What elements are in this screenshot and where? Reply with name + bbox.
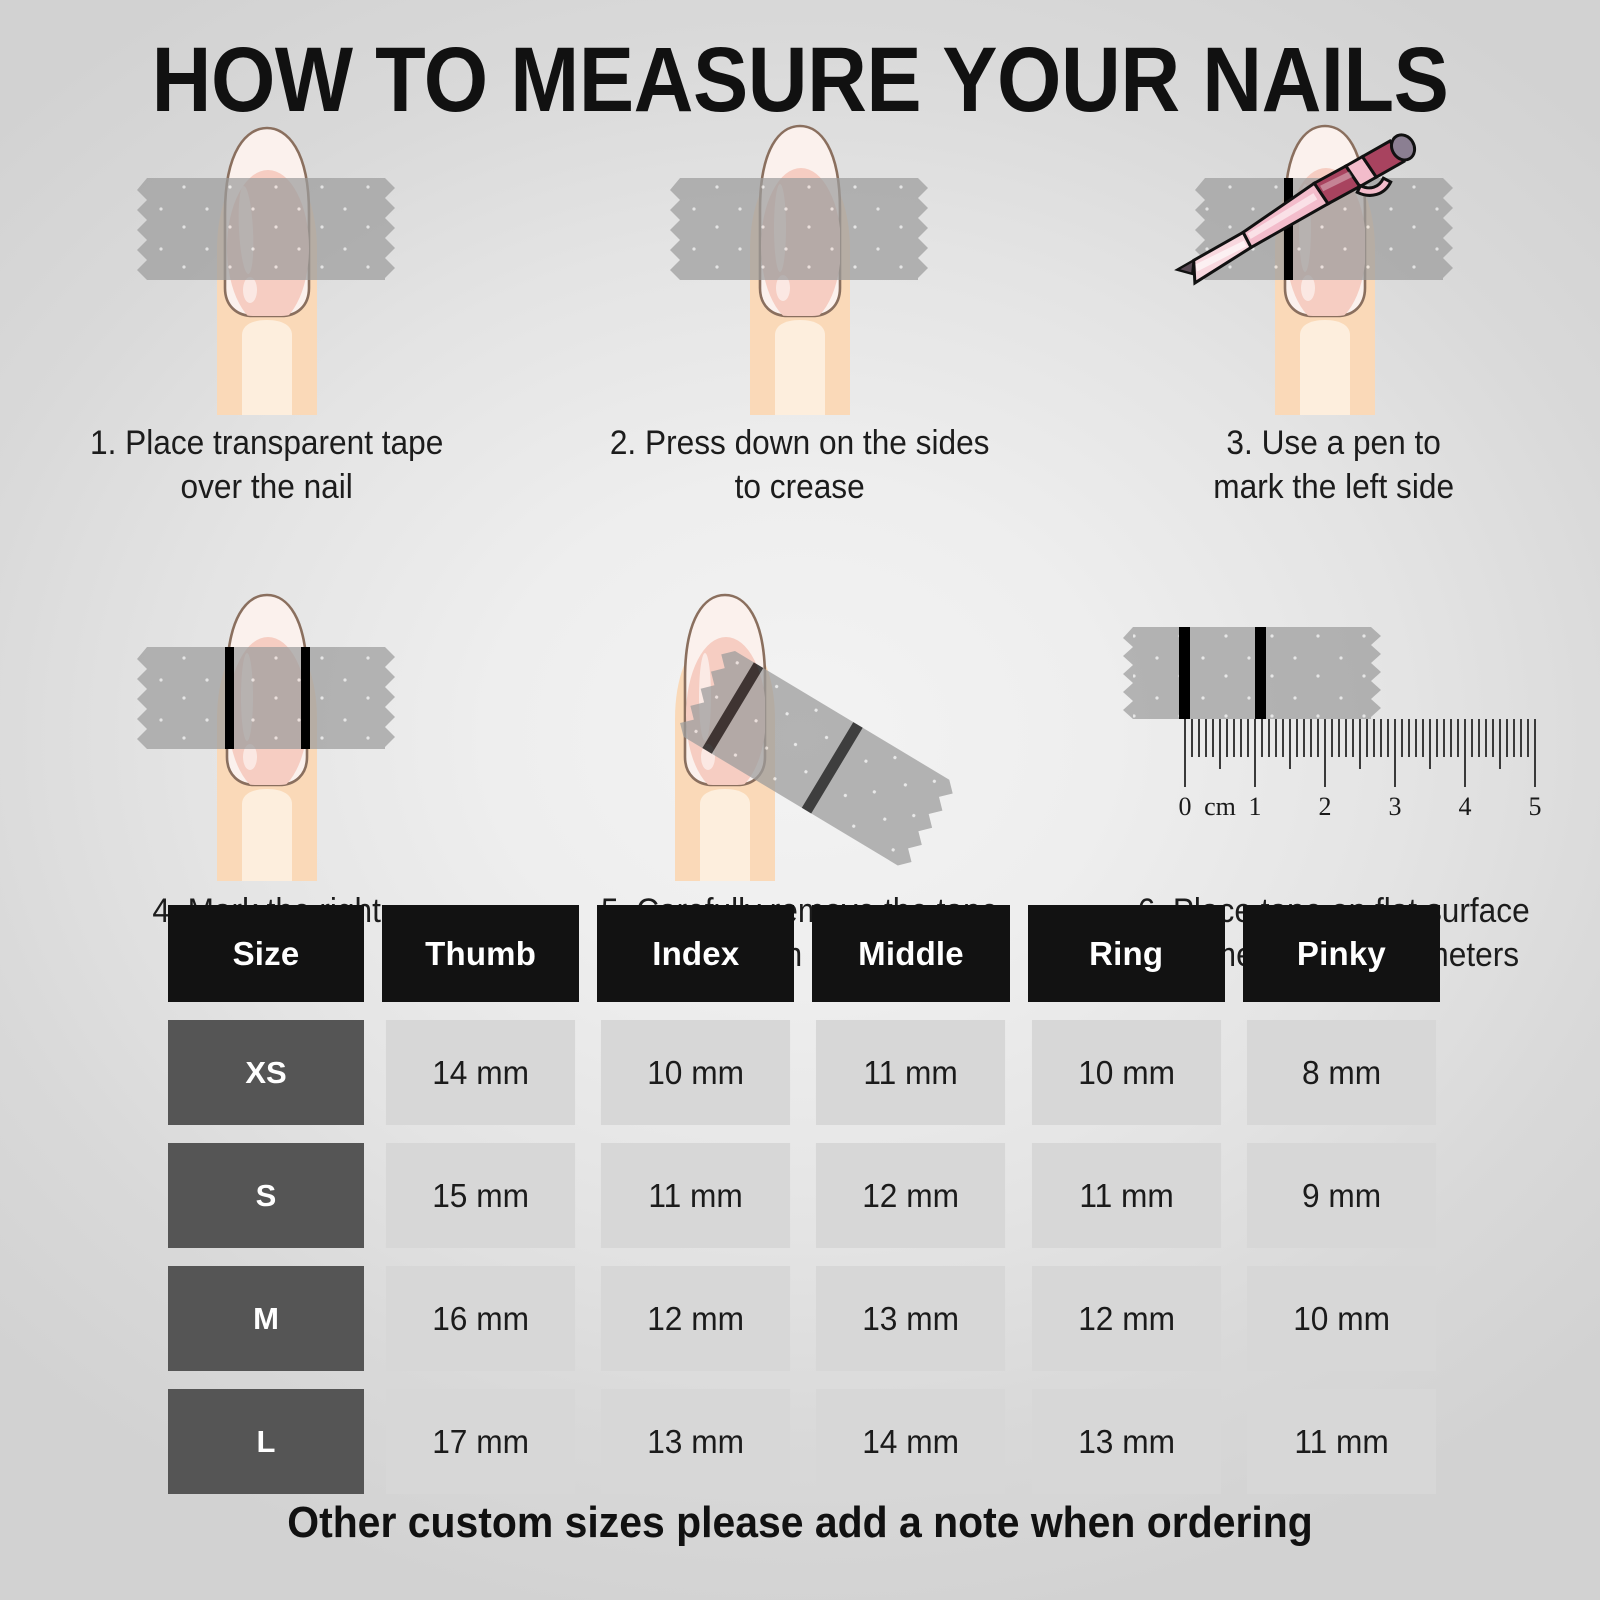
cell-s-ring: 11 mm <box>1032 1143 1221 1248</box>
step-1-caption-line2: over the nail <box>19 465 515 509</box>
step-2-illustration <box>533 120 1066 415</box>
step-2: 2. Press down on the sides to crease <box>533 120 1066 509</box>
cell-m-middle: 13 mm <box>816 1266 1005 1371</box>
right-mark <box>301 647 310 749</box>
finger-two-marks-graphic <box>107 591 427 881</box>
ruler: 0 cm 1 2 3 4 5 <box>1179 719 1542 821</box>
ruler-tick-5: 5 <box>1529 792 1542 821</box>
cell-l-middle: 14 mm <box>816 1389 1005 1494</box>
step-5-illustration <box>533 591 1066 881</box>
ruler-unit-label: cm <box>1204 792 1236 821</box>
footer-note: Other custom sizes please add a note whe… <box>56 1498 1544 1548</box>
table-header-pinky: Pinky <box>1243 905 1440 1002</box>
table-header-middle: Middle <box>812 905 1009 1002</box>
size-label-xs: XS <box>168 1020 364 1125</box>
ruler-labels: 0 cm 1 2 3 4 5 <box>1179 792 1542 821</box>
step-1-caption: 1. Place transparent tape over the nail <box>19 421 515 509</box>
step-4-illustration <box>0 591 533 881</box>
tape-mark-left <box>1179 627 1190 719</box>
size-chart-table: Size Thumb Index Middle Ring Pinky XS 14… <box>168 905 1440 1512</box>
steps-row-top: 1. Place transparent tape over the nail <box>0 120 1600 509</box>
step-2-caption-line1: 2. Press down on the sides <box>552 421 1048 465</box>
cell-m-pinky: 10 mm <box>1247 1266 1436 1371</box>
table-row: XS 14 mm 10 mm 11 mm 10 mm 8 mm <box>168 1020 1440 1125</box>
tape-mark-right <box>1255 627 1266 719</box>
step-6-illustration: 0 cm 1 2 3 4 5 <box>1067 591 1600 881</box>
finger-tape-removed-graphic <box>617 591 1037 881</box>
table-row: L 17 mm 13 mm 14 mm 13 mm 11 mm <box>168 1389 1440 1494</box>
finger-with-tape-graphic <box>107 120 427 415</box>
step-2-caption-line2: to crease <box>552 465 1048 509</box>
table-header-row: Size Thumb Index Middle Ring Pinky <box>168 905 1440 1002</box>
finger-tape-creased-graphic <box>640 120 960 415</box>
step-1-caption-line1: 1. Place transparent tape <box>19 421 515 465</box>
table-header-ring: Ring <box>1028 905 1225 1002</box>
cell-l-ring: 13 mm <box>1032 1389 1221 1494</box>
cell-l-thumb: 17 mm <box>386 1389 575 1494</box>
ruler-tick-0: 0 <box>1179 792 1192 821</box>
ruler-tick-2: 2 <box>1319 792 1332 821</box>
step-3-caption-line1: 3. Use a pen to <box>1085 421 1581 465</box>
ruler-tick-3: 3 <box>1389 792 1402 821</box>
left-mark <box>225 647 234 749</box>
step-3-caption: 3. Use a pen to mark the left side <box>1085 421 1581 509</box>
cell-m-ring: 12 mm <box>1032 1266 1221 1371</box>
step-3-illustration <box>1067 120 1600 415</box>
cell-l-pinky: 11 mm <box>1247 1389 1436 1494</box>
size-label-s: S <box>168 1143 364 1248</box>
cell-s-pinky: 9 mm <box>1247 1143 1436 1248</box>
infographic-page: HOW TO MEASURE YOUR NAILS <box>0 0 1600 1600</box>
cell-xs-pinky: 8 mm <box>1247 1020 1436 1125</box>
cell-s-middle: 12 mm <box>816 1143 1005 1248</box>
finger-tape-pen-graphic <box>1153 120 1513 415</box>
cell-l-index: 13 mm <box>601 1389 790 1494</box>
measured-tape <box>1123 627 1381 719</box>
cell-xs-index: 10 mm <box>601 1020 790 1125</box>
step-1: 1. Place transparent tape over the nail <box>0 120 533 509</box>
table-header-size: Size <box>168 905 364 1002</box>
cell-xs-middle: 11 mm <box>816 1020 1005 1125</box>
transparent-tape <box>670 178 928 280</box>
step-2-caption: 2. Press down on the sides to crease <box>552 421 1048 509</box>
size-label-m: M <box>168 1266 364 1371</box>
step-3-caption-line2: mark the left side <box>1085 465 1581 509</box>
page-title: HOW TO MEASURE YOUR NAILS <box>80 28 1520 133</box>
ruler-tick-4: 4 <box>1459 792 1472 821</box>
table-header-thumb: Thumb <box>382 905 579 1002</box>
cell-xs-thumb: 14 mm <box>386 1020 575 1125</box>
cell-s-index: 11 mm <box>601 1143 790 1248</box>
step-3: 3. Use a pen to mark the left side <box>1067 120 1600 509</box>
transparent-tape <box>137 647 395 749</box>
table-row: M 16 mm 12 mm 13 mm 12 mm 10 mm <box>168 1266 1440 1371</box>
cell-m-index: 12 mm <box>601 1266 790 1371</box>
cell-s-thumb: 15 mm <box>386 1143 575 1248</box>
table-row: S 15 mm 11 mm 12 mm 11 mm 9 mm <box>168 1143 1440 1248</box>
size-label-l: L <box>168 1389 364 1494</box>
table-header-index: Index <box>597 905 794 1002</box>
ruler-tick-1: 1 <box>1249 792 1262 821</box>
tape-on-ruler-graphic: 0 cm 1 2 3 4 5 <box>1103 609 1563 899</box>
cell-m-thumb: 16 mm <box>386 1266 575 1371</box>
step-1-illustration <box>0 120 533 415</box>
cell-xs-ring: 10 mm <box>1032 1020 1221 1125</box>
transparent-tape <box>137 178 395 280</box>
steps-grid: 1. Place transparent tape over the nail <box>0 120 1600 977</box>
